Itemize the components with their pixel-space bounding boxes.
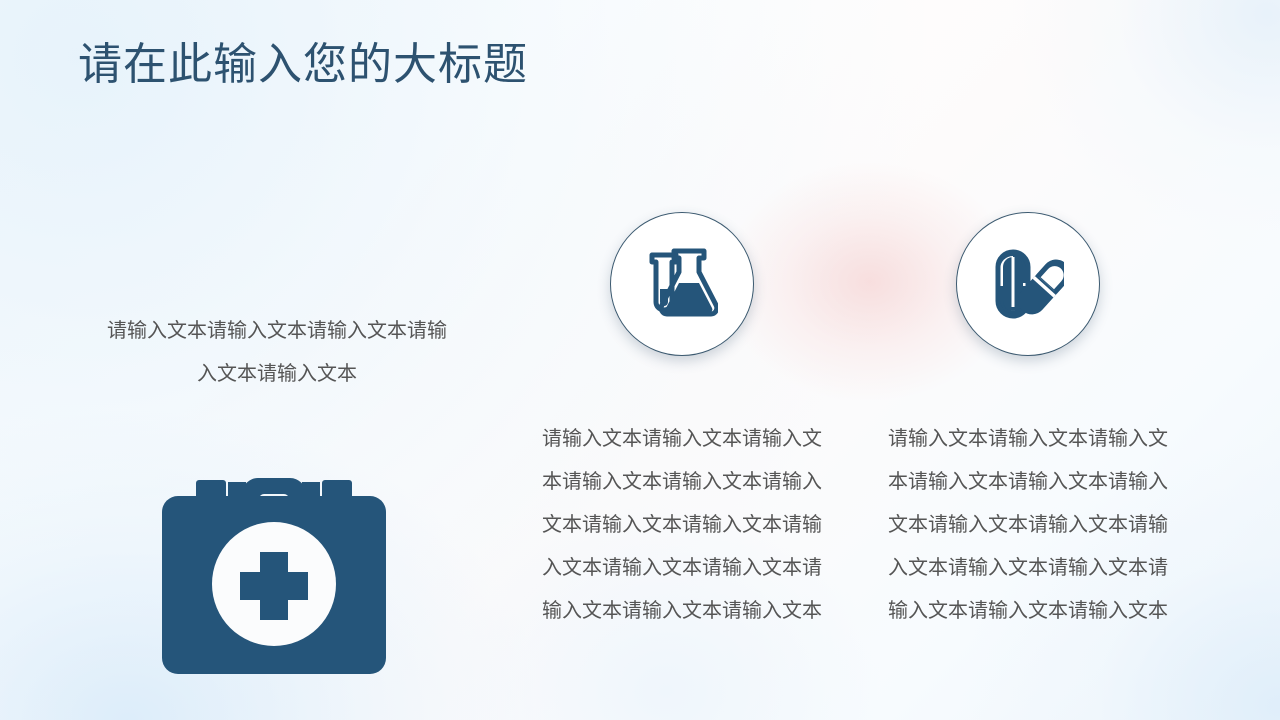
- column-meds: 请输入文本请输入文本请输入文本请输入文本请输入文本请输入文本请输入文本请输入文本…: [868, 212, 1188, 633]
- pills-capsule-icon: [992, 247, 1064, 321]
- column-lab-paragraph: 请输入文本请输入文本请输入文本请输入文本请输入文本请输入文本请输入文本请输入文本…: [534, 418, 830, 633]
- flask-test-tube-icon: [646, 247, 718, 321]
- column-lab: 请输入文本请输入文本请输入文本请输入文本请输入文本请输入文本请输入文本请输入文本…: [522, 212, 842, 633]
- slide-canvas: 请在此输入您的大标题 请输入文本请输入文本请输入文本请输入文本请输入文本: [0, 0, 1280, 720]
- first-aid-kit-icon: [160, 452, 388, 678]
- column-meds-paragraph: 请输入文本请输入文本请输入文本请输入文本请输入文本请输入文本请输入文本请输入文本…: [880, 418, 1176, 633]
- page-title: 请在此输入您的大标题: [78, 36, 528, 94]
- left-column-paragraph: 请输入文本请输入文本请输入文本请输入文本请输入文本: [52, 310, 502, 396]
- left-column: 请输入文本请输入文本请输入文本请输入文本请输入文本: [52, 310, 502, 396]
- meds-icon-badge[interactable]: [956, 212, 1100, 356]
- lab-icon-badge[interactable]: [610, 212, 754, 356]
